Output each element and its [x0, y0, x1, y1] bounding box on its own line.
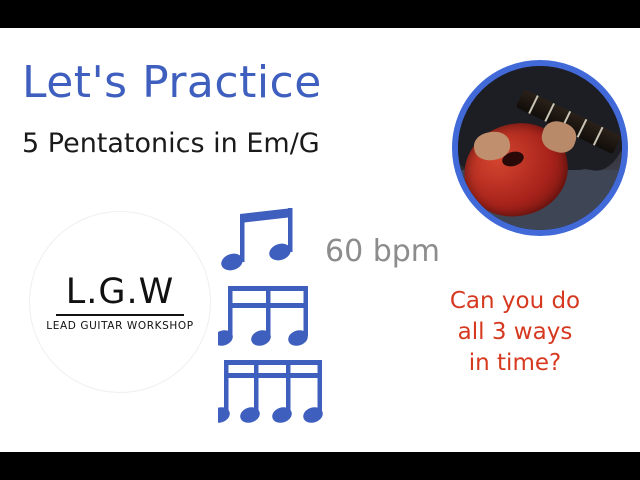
- eighth-note-pair: [219, 208, 293, 273]
- letterbox-top: [0, 0, 640, 28]
- question-line-2: all 3 ways: [412, 317, 618, 348]
- logo-divider: [56, 314, 184, 316]
- thumbnail-content: Let's Practice 5 Pentatonics in Em/G 60 …: [0, 28, 640, 452]
- question-line-1: Can you do: [412, 286, 618, 317]
- guitarist-photo-inner: [458, 66, 622, 230]
- rhythm-notation-graphic: [218, 208, 338, 428]
- video-thumbnail: Let's Practice 5 Pentatonics in Em/G 60 …: [0, 0, 640, 480]
- sixteenth-note-group: [218, 360, 325, 425]
- letterbox-bottom: [0, 452, 640, 480]
- logo-badge: L.G.W LEAD GUITAR WORKSHOP: [30, 212, 210, 392]
- logo-tagline: LEAD GUITAR WORKSHOP: [46, 320, 193, 332]
- question-line-3: in time?: [412, 348, 618, 379]
- logo-mark: L.G.W: [66, 273, 174, 311]
- page-subtitle: 5 Pentatonics in Em/G: [22, 128, 320, 160]
- logo-content: L.G.W LEAD GUITAR WORKSHOP: [30, 212, 210, 392]
- tempo-label: 60 bpm: [325, 234, 440, 269]
- triplet-group: [218, 286, 310, 348]
- guitarist-photo: [452, 60, 628, 236]
- page-title: Let's Practice: [22, 58, 322, 108]
- question-text: Can you do all 3 ways in time?: [412, 286, 618, 379]
